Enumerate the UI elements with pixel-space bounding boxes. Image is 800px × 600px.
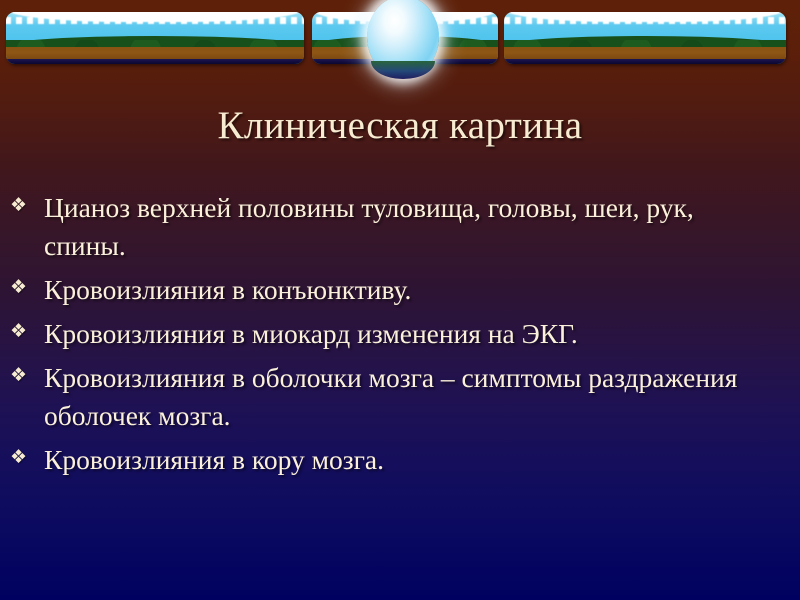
cloud-band-icon bbox=[504, 12, 786, 22]
list-item: ❖ Кровоизлияния в миокард изменения на Э… bbox=[10, 315, 792, 353]
list-item-text: Кровоизлияния в оболочки мозга – симптом… bbox=[44, 359, 792, 435]
diamond-bullet-icon: ❖ bbox=[10, 315, 44, 341]
globe-sphere-icon bbox=[367, 0, 439, 78]
base-strip bbox=[6, 59, 304, 64]
base-strip bbox=[504, 59, 786, 64]
presentation-slide: Клиническая картина ❖ Цианоз верхней пол… bbox=[0, 0, 800, 600]
cloud-band-icon bbox=[6, 12, 304, 22]
list-item-text: Кровоизлияния в конъюнктиву. bbox=[44, 271, 792, 309]
landscape-panel-right bbox=[504, 12, 786, 64]
diamond-bullet-icon: ❖ bbox=[10, 359, 44, 385]
diamond-bullet-icon: ❖ bbox=[10, 441, 44, 467]
list-item-text: Кровоизлияния в миокард изменения на ЭКГ… bbox=[44, 315, 792, 353]
list-item: ❖ Цианоз верхней половины туловища, голо… bbox=[10, 189, 792, 265]
list-item-text: Кровоизлияния в кору мозга. bbox=[44, 441, 792, 479]
banner-decoration bbox=[0, 0, 800, 86]
diamond-bullet-icon: ❖ bbox=[10, 189, 44, 215]
list-item: ❖ Кровоизлияния в оболочки мозга – симпт… bbox=[10, 359, 792, 435]
list-item-text: Цианоз верхней половины туловища, головы… bbox=[44, 189, 792, 265]
page-title: Клиническая картина bbox=[0, 104, 800, 148]
diamond-bullet-icon: ❖ bbox=[10, 271, 44, 297]
landscape-panel-left bbox=[6, 12, 304, 64]
list-item: ❖ Кровоизлияния в конъюнктиву. bbox=[10, 271, 792, 309]
list-item: ❖ Кровоизлияния в кору мозга. bbox=[10, 441, 792, 479]
bullet-list: ❖ Цианоз верхней половины туловища, голо… bbox=[10, 189, 792, 485]
